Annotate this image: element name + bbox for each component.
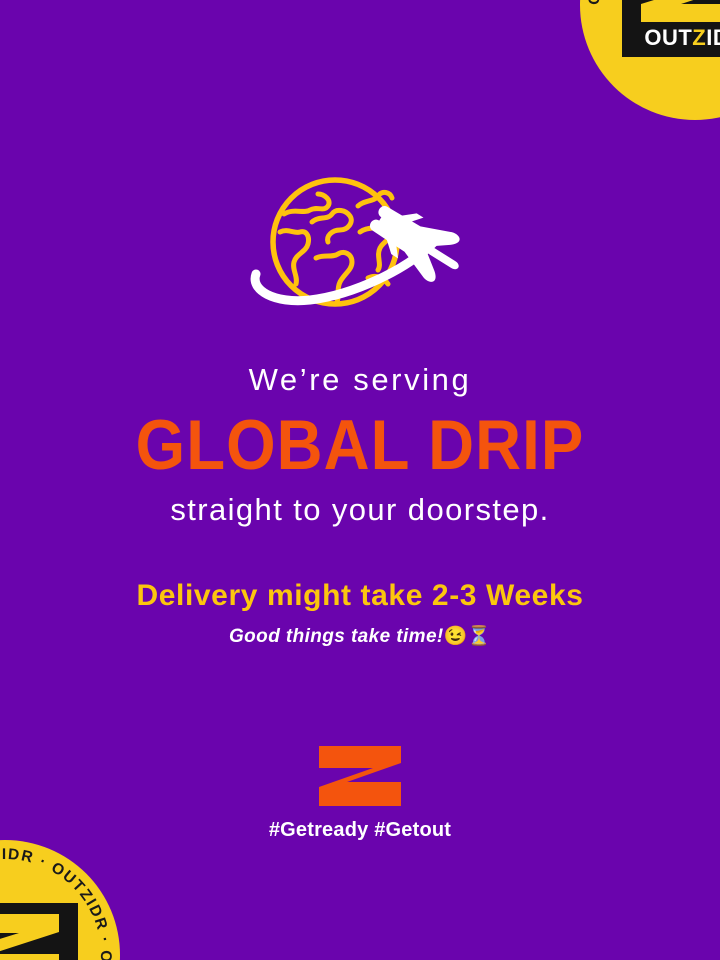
delivery-notice: Delivery might take 2-3 Weeks: [30, 578, 690, 614]
badge-core-bottom-left: OUTZIDR: [0, 903, 78, 960]
badge-core-word-mark: Z: [692, 25, 706, 50]
subline: straight to your doorstep.: [30, 492, 690, 529]
delivery-note-text: Good things take time!: [229, 626, 444, 647]
kicker-line: We’re serving: [30, 362, 690, 399]
badge-core-wordmark: OUTZIDR: [644, 27, 720, 49]
message-block: We’re serving GLOBAL DRIP straight to yo…: [0, 362, 720, 649]
globe-with-airplane-icon: [240, 170, 480, 330]
badge-core-top-right: OUTZIDR: [622, 0, 720, 57]
footer-brand-block: #Getready #Getout: [0, 746, 720, 840]
brand-badge-bottom-left: OUTZIDR · OUTZIDR · OUTZIDR · OUTZIDR · …: [0, 840, 120, 960]
poster-canvas: OUTZIDR · OUTZIDR · OUTZIDR · OUTZIDR · …: [0, 0, 720, 960]
delivery-note-emoji: 😉⏳: [444, 626, 491, 647]
hero-illustration: [0, 170, 720, 330]
hashtag-line: #Getready #Getout: [269, 820, 451, 840]
brand-badge-top-right: OUTZIDR · OUTZIDR · OUTZIDR · OUTZIDR · …: [580, 0, 720, 120]
headline: GLOBAL DRIP: [10, 409, 710, 481]
z-monogram-logo-icon: [319, 746, 401, 806]
badge-z-mark-icon: [637, 0, 720, 24]
badge-core-word-after: IDR: [706, 25, 720, 50]
badge-core-word-before: OUT: [644, 25, 692, 50]
badge-z-mark-icon-bottom: [0, 912, 63, 960]
delivery-note: Good things take time!😉⏳: [30, 626, 690, 649]
